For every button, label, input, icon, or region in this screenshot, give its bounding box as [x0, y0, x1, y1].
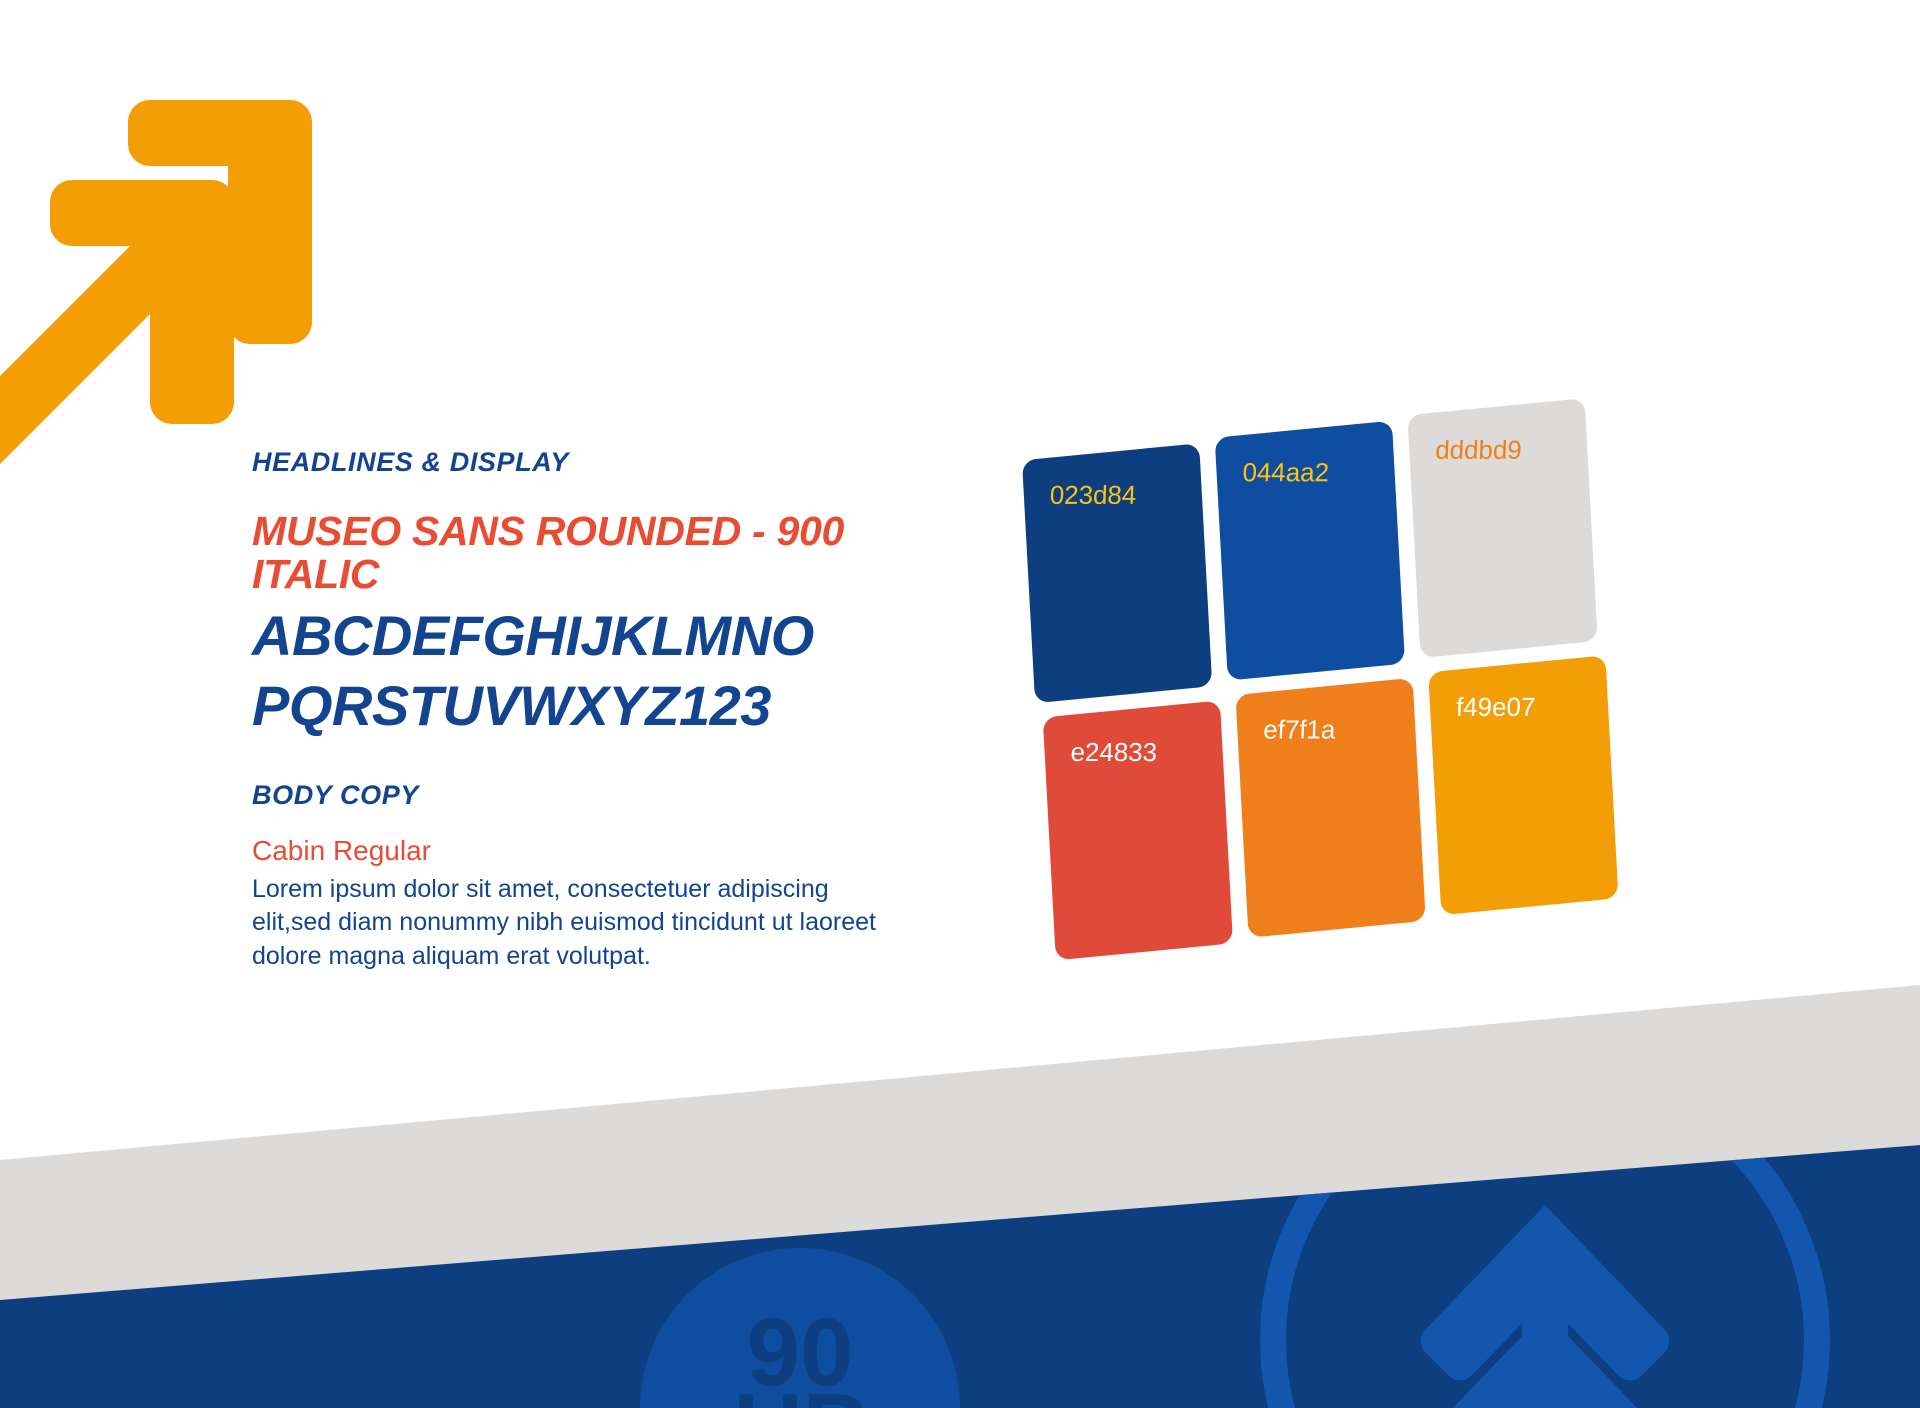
up-arrow-decor — [1421, 1205, 1670, 1408]
body-copy-sample-text: Lorem ipsum dolor sit amet, consectetuer… — [252, 873, 902, 973]
color-swatch[interactable]: 044aa2 — [1215, 421, 1405, 681]
color-swatch-label: ef7f1a — [1263, 714, 1336, 745]
color-swatch-label: f49e07 — [1455, 692, 1536, 723]
alphabet-line-1: ABCDEFGHIJKLMNO — [252, 606, 952, 666]
body-font-name: Cabin Regular — [252, 836, 952, 867]
color-palette-grid: 023d84 044aa2 dddbd9 e24833 ef7f1a f49e0… — [1016, 390, 1724, 981]
color-swatch[interactable]: f49e07 — [1428, 655, 1618, 915]
circle-outline-decor — [1273, 1068, 1817, 1408]
watermark-circle — [640, 1248, 960, 1408]
color-swatch[interactable]: 023d84 — [1022, 443, 1212, 703]
gray-diagonal-band — [0, 985, 1920, 1300]
color-swatch-label: 044aa2 — [1242, 457, 1330, 488]
headlines-display-eyebrow: HEADLINES & DISPLAY — [252, 448, 952, 478]
brand-style-sheet: 90 UP HEADLINES & DISPLAY MUSEO SANS ROU… — [0, 0, 1920, 1408]
blue-diagonal-band — [0, 1145, 1920, 1408]
color-swatch-label: 023d84 — [1049, 480, 1137, 511]
alphabet-line-2: PQRSTUVWXYZ123 — [252, 676, 952, 736]
color-swatch-label: dddbd9 — [1435, 435, 1523, 466]
display-font-specimen-name: MUSEO SANS ROUNDED - 900 ITALIC — [252, 510, 952, 596]
color-swatch[interactable]: ef7f1a — [1235, 678, 1425, 938]
typography-section: HEADLINES & DISPLAY MUSEO SANS ROUNDED -… — [252, 448, 952, 973]
color-swatch[interactable]: dddbd9 — [1407, 398, 1597, 658]
color-swatch[interactable]: e24833 — [1043, 700, 1233, 960]
color-swatch-label: e24833 — [1070, 737, 1158, 768]
body-copy-eyebrow: BODY COPY — [252, 781, 952, 811]
watermark-word: UP — [733, 1374, 866, 1408]
watermark-number: 90 — [747, 1299, 854, 1406]
logo-arrow-up-right-icon — [0, 70, 380, 500]
